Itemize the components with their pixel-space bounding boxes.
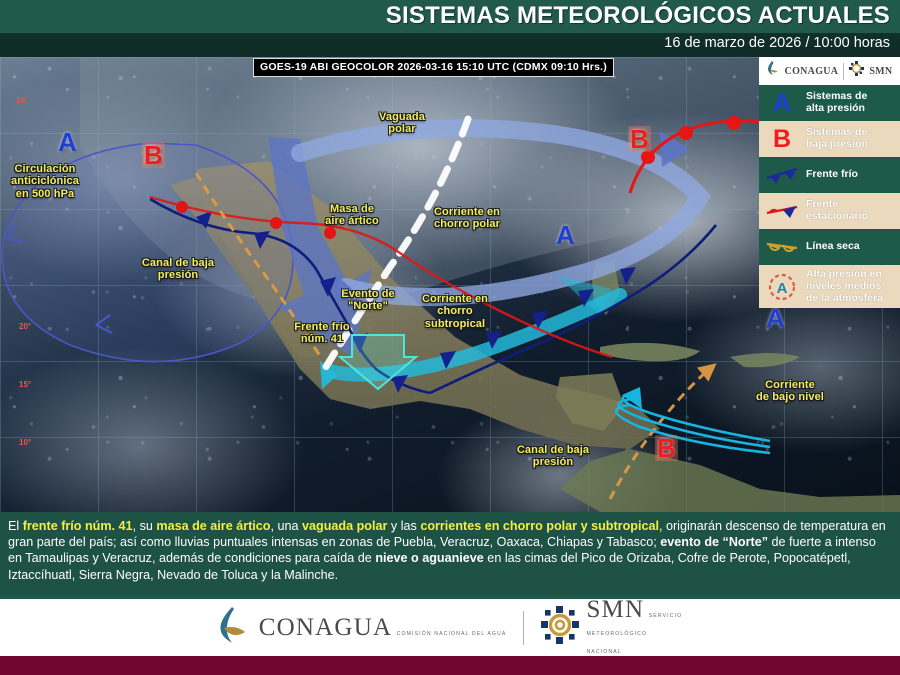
- bulletin-highlight: frente frío núm. 41: [23, 519, 133, 533]
- land-south-america: [560, 449, 900, 512]
- low-pressure-marker: B: [628, 126, 651, 152]
- smn-wordmark: SMN SERVICIO METEOROLÓGICO NACIONAL: [586, 597, 682, 658]
- bulletin-text: , una: [271, 519, 303, 533]
- map-annotation: Masa de aire ártico: [304, 203, 400, 228]
- map-annotation: Canal de baja presión: [505, 444, 601, 469]
- bulletin-paragraph: El frente frío núm. 41, su masa de aire …: [8, 518, 892, 583]
- conagua-brand: CONAGUA COMISIÓN NACIONAL DEL AGUA: [218, 606, 507, 649]
- map-annotation: Corriente de bajo nivel: [742, 379, 838, 404]
- map-annotation: Corriente en chorro polar: [419, 206, 515, 231]
- smn-spiral-icon: [849, 61, 864, 81]
- bulletin-highlight: vaguada polar: [302, 519, 387, 533]
- bulletin-text: y las: [387, 519, 420, 533]
- bulletin-text: El: [8, 519, 23, 533]
- high-pressure-marker: A: [766, 305, 785, 331]
- page-title: SISTEMAS METEOROLÓGICOS ACTUALES: [386, 2, 890, 30]
- map-annotation: Frente frío núm. 41: [274, 321, 370, 346]
- legend-rows: ASistemas de alta presiónBSistemas de ba…: [759, 85, 900, 308]
- land-hispaniola: [730, 353, 800, 367]
- legend-divider: [843, 63, 844, 80]
- letter-b-low-pressure-icon: B: [763, 127, 801, 152]
- conagua-subtitle: COMISIÓN NACIONAL DEL AGUA: [397, 631, 507, 637]
- low-pressure-marker: B: [142, 142, 165, 168]
- legend-logo-bar: CONAGUA SMN: [759, 57, 900, 85]
- legend-item-label: Sistemas de alta presión: [806, 91, 867, 115]
- legend-item-label: Frente frío: [806, 169, 858, 181]
- bulletin-emphasis: evento de “Norte”: [660, 535, 768, 549]
- footer-logos: CONAGUA COMISIÓN NACIONAL DEL AGUA: [0, 599, 900, 656]
- dry-line-icon: [763, 237, 801, 257]
- bulletin-highlight: masa de aire ártico: [156, 519, 270, 533]
- smn-logo-icon: [541, 606, 579, 649]
- legend-item-dry-line[interactable]: Línea seca: [759, 229, 900, 265]
- legend-item-letter-a-high-pressure[interactable]: ASistemas de alta presión: [759, 85, 900, 121]
- legend-smn-text: SMN: [869, 66, 892, 77]
- map-annotation: Canal de baja presión: [130, 257, 226, 282]
- smn-name: SMN: [586, 596, 644, 623]
- bulletin-emphasis: nieve o aguanieve: [375, 551, 484, 565]
- legend-item-letter-b-low-pressure[interactable]: BSistemas de baja presión: [759, 121, 900, 157]
- legend-item-label: Alta presión en niveles medios de la atm…: [806, 269, 883, 304]
- conagua-wordmark: CONAGUA COMISIÓN NACIONAL DEL AGUA: [259, 615, 507, 640]
- map-annotation: Circulación anticiclónica en 500 hPa: [0, 163, 93, 200]
- low-pressure-marker: B: [655, 435, 678, 461]
- stationary-front-icon: [763, 201, 801, 221]
- map-legend[interactable]: CONAGUA SMN ASistemas de alta presiónBS: [759, 57, 900, 308]
- footer-divider: [523, 611, 524, 645]
- footer-accent-bar: [0, 656, 900, 675]
- legend-glyph: B: [773, 127, 791, 152]
- svg-text:A: A: [777, 280, 788, 297]
- conagua-name: CONAGUA: [259, 614, 392, 641]
- coordinate-label: 20°: [19, 322, 31, 331]
- legend-item-label: Frente estacionario: [806, 199, 868, 223]
- letter-a-high-pressure-icon: A: [763, 91, 801, 116]
- legend-item-mid-level-high-pressure[interactable]: AAlta presión en niveles medios de la at…: [759, 265, 900, 308]
- conagua-logo-icon: [218, 606, 252, 649]
- legend-item-label: Sistemas de baja presión: [806, 127, 868, 151]
- smn-brand: SMN SERVICIO METEOROLÓGICO NACIONAL: [541, 597, 682, 658]
- coordinate-label: 15°: [19, 380, 31, 389]
- bulletin-text-panel: El frente frío núm. 41, su masa de aire …: [0, 512, 900, 596]
- satellite-timestamp-label: GOES-19 ABI GEOCOLOR 2026-03-16 15:10 UT…: [253, 58, 614, 77]
- legend-glyph: A: [773, 91, 791, 116]
- legend-item-stationary-front[interactable]: Frente estacionario: [759, 193, 900, 229]
- mid-level-high-pressure-icon: A: [763, 272, 801, 302]
- map-annotation: Evento de "Norte": [320, 288, 416, 313]
- bulletin-date: 16 de marzo de 2026 / 10:00 horas: [664, 35, 890, 51]
- coordinate-label: 30°: [16, 96, 28, 105]
- high-pressure-marker: A: [556, 222, 575, 248]
- land-cuba: [600, 343, 700, 361]
- bulletin-highlight: corrientes en chorro polar y subtropical: [420, 519, 659, 533]
- high-pressure-marker: A: [58, 129, 77, 155]
- map-annotation: Corriente en chorro subtropical: [407, 293, 503, 330]
- map-annotation: Vaguada polar: [354, 111, 450, 136]
- weather-bulletin-page: SISTEMAS METEOROLÓGICOS ACTUALES 16 de m…: [0, 0, 900, 675]
- coordinate-label: 10°: [19, 438, 31, 447]
- legend-conagua-text: CONAGUA: [785, 66, 839, 77]
- satellite-map[interactable]: GOES-19 ABI GEOCOLOR 2026-03-16 15:10 UT…: [0, 57, 900, 512]
- legend-item-cold-front[interactable]: Frente frío: [759, 157, 900, 193]
- cold-front-icon: [763, 165, 801, 185]
- bulletin-text: , su: [133, 519, 157, 533]
- conagua-drop-icon: [767, 61, 780, 81]
- legend-item-label: Línea seca: [806, 241, 860, 253]
